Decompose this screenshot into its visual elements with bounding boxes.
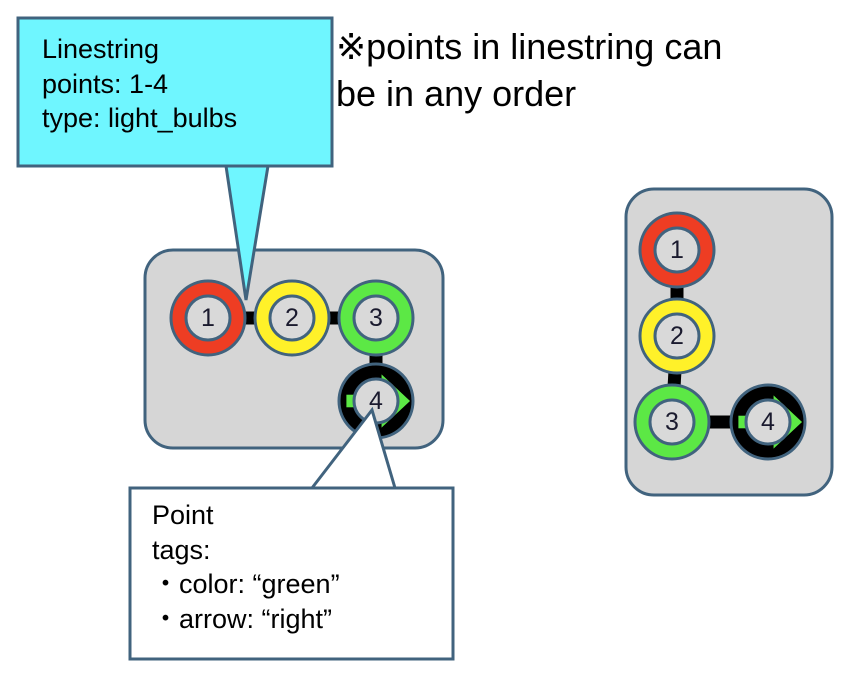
node-2[interactable]: 2 xyxy=(255,281,329,355)
diagram-canvas: 12341234 Linestring points: 1-4 type: li… xyxy=(0,0,860,692)
node-label-3: 3 xyxy=(665,408,679,436)
linestring-callout-text: Linestring points: 1-4 type: light_bulbs xyxy=(42,32,237,136)
node-label-2: 2 xyxy=(670,322,684,350)
node-label-1: 1 xyxy=(670,236,684,264)
node-1[interactable]: 1 xyxy=(171,281,245,355)
node-3[interactable]: 3 xyxy=(635,385,709,459)
header-note-text: ※points in linestring can be in any orde… xyxy=(336,24,722,118)
node-3[interactable]: 3 xyxy=(339,281,413,355)
diagram-horizontal-layout: 1234 xyxy=(145,250,443,448)
node-4[interactable]: 4 xyxy=(731,385,805,459)
node-1[interactable]: 1 xyxy=(640,213,714,287)
node-2[interactable]: 2 xyxy=(640,299,714,373)
node-label-4: 4 xyxy=(761,408,775,436)
point-callout-text: Point tags: ・color: “green” ・arrow: “rig… xyxy=(152,498,340,636)
node-label-3: 3 xyxy=(369,304,383,332)
node-label-1: 1 xyxy=(201,304,215,332)
diagram-vertical-layout: 1234 xyxy=(626,189,832,495)
node-label-2: 2 xyxy=(285,304,299,332)
